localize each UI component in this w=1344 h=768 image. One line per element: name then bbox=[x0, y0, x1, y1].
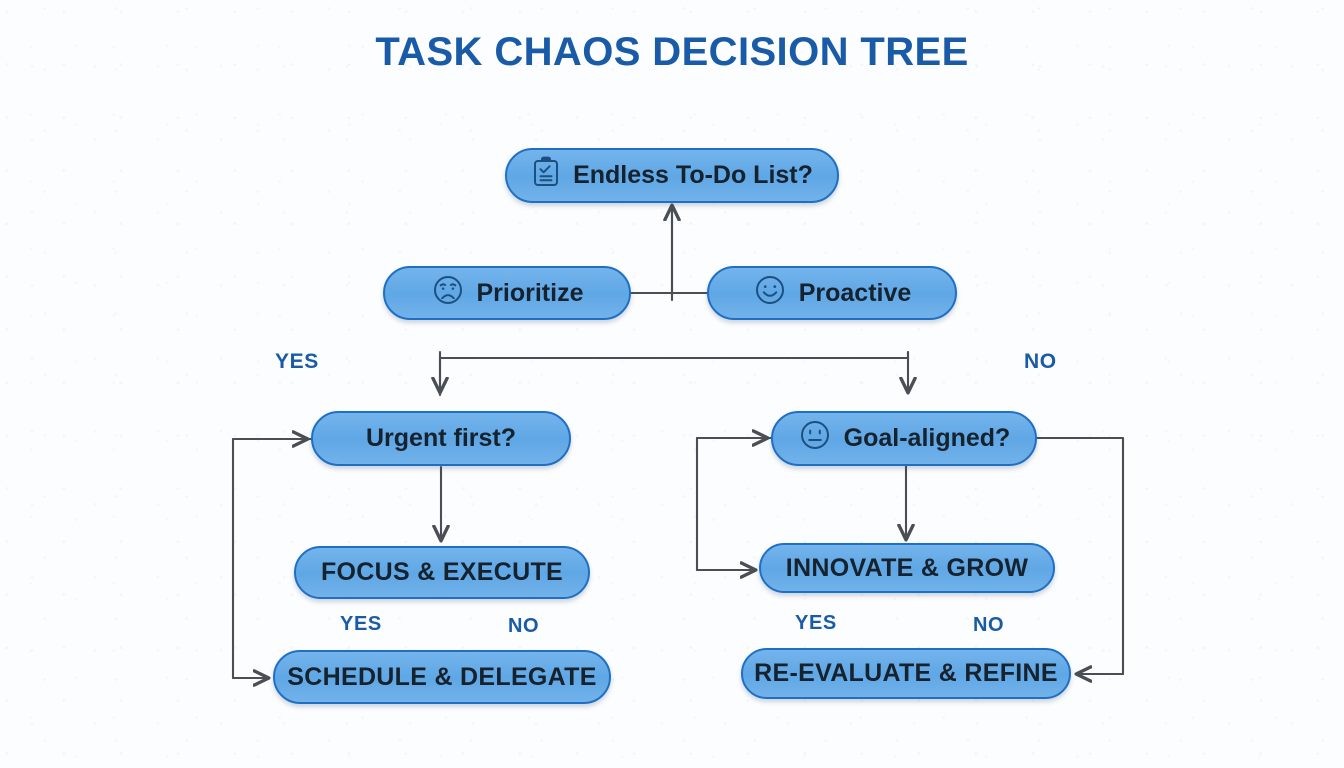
node-urgent-first[interactable]: Urgent first? bbox=[311, 411, 571, 466]
node-label: RE-EVALUATE & REFINE bbox=[754, 661, 1058, 686]
edge-label-left-no: NO bbox=[508, 615, 539, 638]
node-goal-aligned[interactable]: Goal-aligned? bbox=[771, 411, 1037, 466]
edge-label-right-yes: YES bbox=[795, 612, 837, 635]
edge-label-branch-yes: YES bbox=[275, 350, 319, 374]
node-label: FOCUS & EXECUTE bbox=[321, 560, 563, 585]
node-label: Proactive bbox=[799, 281, 912, 306]
smiley-face-icon bbox=[753, 273, 787, 314]
node-endless-to-do-list[interactable]: Endless To-Do List? bbox=[505, 148, 839, 203]
node-label: Goal-aligned? bbox=[844, 426, 1011, 451]
node-label: Endless To-Do List? bbox=[573, 163, 813, 188]
node-innovate-grow[interactable]: INNOVATE & GROW bbox=[759, 543, 1055, 593]
node-reevaluate-refine[interactable]: RE-EVALUATE & REFINE bbox=[741, 648, 1071, 699]
node-focus-execute[interactable]: FOCUS & EXECUTE bbox=[294, 546, 590, 599]
node-label: Urgent first? bbox=[366, 426, 516, 451]
node-schedule-delegate[interactable]: SCHEDULE & DELEGATE bbox=[273, 650, 611, 704]
clipboard-check-icon bbox=[531, 156, 561, 195]
node-label: SCHEDULE & DELEGATE bbox=[287, 665, 596, 690]
decision-tree-canvas: TASK CHAOS DECISION TREE bbox=[0, 0, 1344, 768]
connector-lines bbox=[0, 0, 1344, 768]
node-proactive[interactable]: Proactive bbox=[707, 266, 957, 320]
neutral-face-icon bbox=[798, 418, 832, 459]
page-title: TASK CHAOS DECISION TREE bbox=[0, 30, 1344, 75]
edge-label-branch-no: NO bbox=[1024, 350, 1057, 374]
edge-label-right-no: NO bbox=[973, 614, 1004, 637]
node-label: Prioritize bbox=[477, 281, 584, 306]
node-label: INNOVATE & GROW bbox=[786, 556, 1028, 581]
sad-face-icon bbox=[431, 273, 465, 314]
node-prioritize[interactable]: Prioritize bbox=[383, 266, 631, 320]
edge-label-left-yes: YES bbox=[340, 613, 382, 636]
